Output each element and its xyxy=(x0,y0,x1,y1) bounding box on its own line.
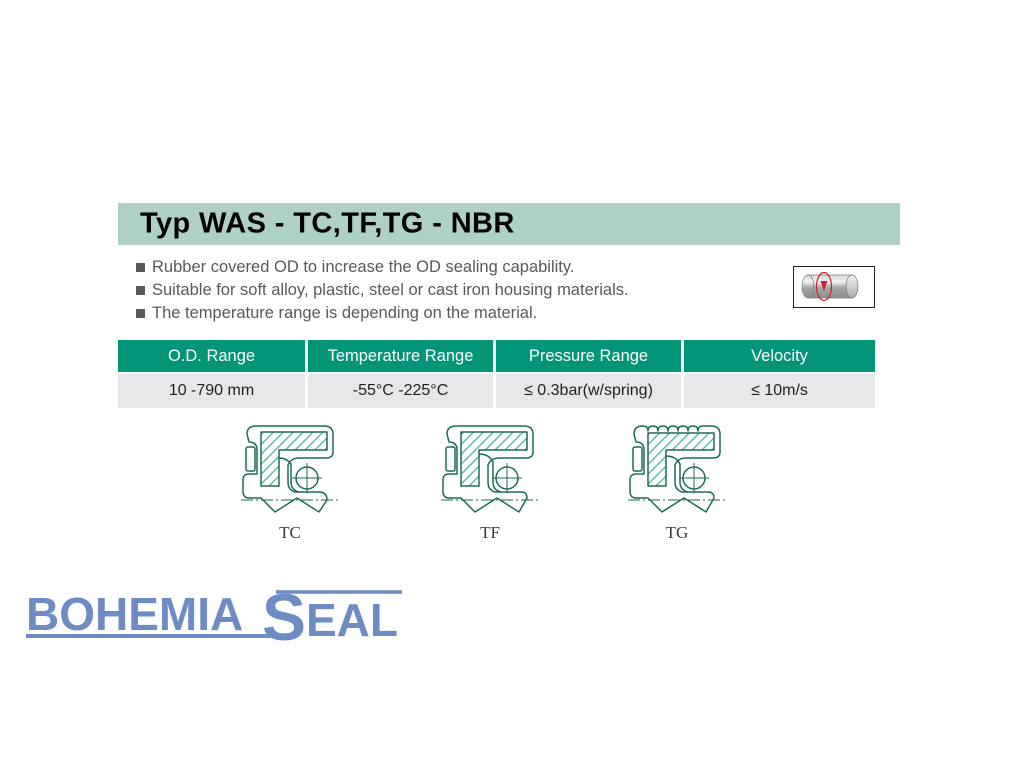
table-header-row: O.D. Range Temperature Range Pressure Ra… xyxy=(118,340,875,372)
seal-label-tg: TG xyxy=(602,523,752,543)
spec-table: O.D. Range Temperature Range Pressure Ra… xyxy=(118,340,875,408)
seal-figure-tf: TF xyxy=(415,420,565,543)
cell-od-range: 10 -790 mm xyxy=(118,374,305,408)
list-item: The temperature range is depending on th… xyxy=(136,302,756,325)
page-title: Typ WAS - TC,TF,TG - NBR xyxy=(140,208,515,241)
title-band: Typ WAS - TC,TF,TG - NBR xyxy=(118,203,900,245)
cell-temperature-range: -55°C -225°C xyxy=(308,374,493,408)
table-row: 10 -790 mm -55°C -225°C ≤ 0.3bar(w/sprin… xyxy=(118,374,875,408)
list-item-label: Suitable for soft alloy, plastic, steel … xyxy=(152,279,629,302)
list-item-label: Rubber covered OD to increase the OD sea… xyxy=(152,256,575,279)
seal-diagram-tc xyxy=(235,420,345,520)
seal-figure-tg: TG xyxy=(602,420,752,543)
column-header-velocity: Velocity xyxy=(684,340,875,372)
list-item-label: The temperature range is depending on th… xyxy=(152,302,537,325)
list-item: Rubber covered OD to increase the OD sea… xyxy=(136,256,756,279)
list-item: Suitable for soft alloy, plastic, steel … xyxy=(136,279,756,302)
feature-list: Rubber covered OD to increase the OD sea… xyxy=(136,256,756,325)
bullet-square-icon xyxy=(136,263,145,272)
company-logo: BOHEMIA S EAL xyxy=(14,578,414,648)
seal-label-tf: TF xyxy=(415,523,565,543)
seal-figure-tc: TC xyxy=(215,420,365,543)
cell-velocity: ≤ 10m/s xyxy=(684,374,875,408)
logo-text-eal: EAL xyxy=(306,594,398,646)
bullet-square-icon xyxy=(136,286,145,295)
logo-text-s: S xyxy=(262,580,306,648)
rotating-shaft-icon xyxy=(793,266,875,308)
column-header-temperature-range: Temperature Range xyxy=(308,340,493,372)
column-header-od-range: O.D. Range xyxy=(118,340,305,372)
column-header-pressure-range: Pressure Range xyxy=(496,340,681,372)
bullet-square-icon xyxy=(136,309,145,318)
seal-diagram-group: TC TF xyxy=(118,420,875,550)
seal-diagram-tg xyxy=(622,420,732,520)
logo-text-bohemia: BOHEMIA xyxy=(26,588,243,640)
seal-label-tc: TC xyxy=(215,523,365,543)
cell-pressure-range: ≤ 0.3bar(w/spring) xyxy=(496,374,681,408)
seal-diagram-tf xyxy=(435,420,545,520)
